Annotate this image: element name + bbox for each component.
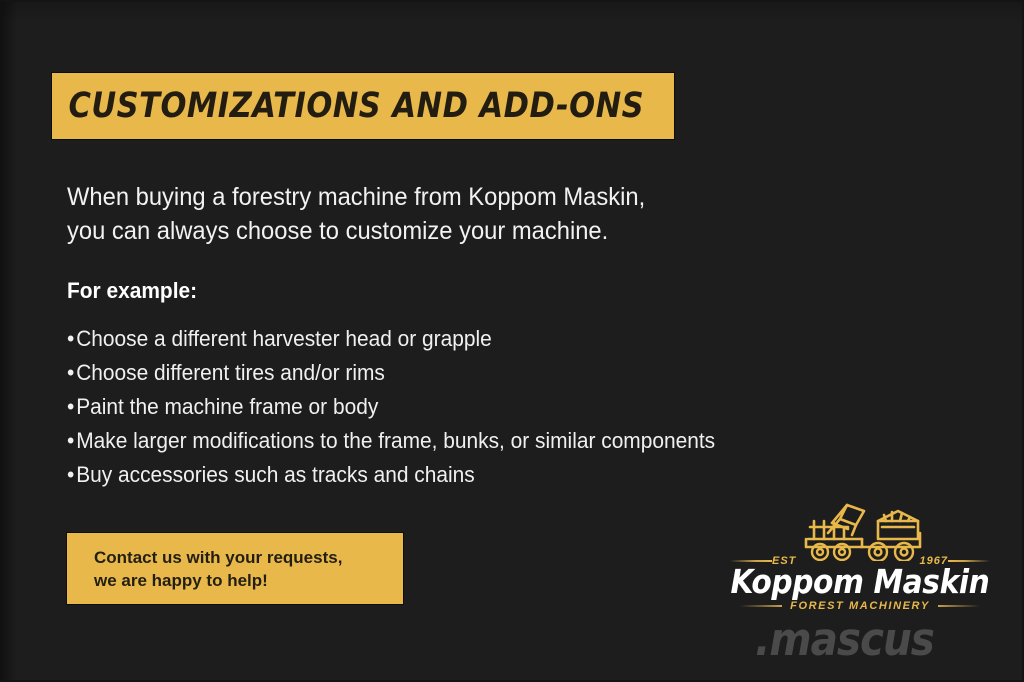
title-banner: CUSTOMIZATIONS AND ADD-ONS bbox=[52, 73, 674, 139]
list-item-label: Paint the machine frame or body bbox=[76, 394, 378, 419]
list-item: •Make larger modifications to the frame,… bbox=[67, 424, 856, 458]
example-heading: For example: bbox=[67, 278, 197, 304]
promo-slide: CUSTOMIZATIONS AND ADD-ONS When buying a… bbox=[0, 0, 1024, 682]
cta-line-1: Contact us with your requests, bbox=[94, 546, 403, 569]
logo-tagline: FOREST MACHINERY bbox=[790, 600, 930, 612]
list-item: •Paint the machine frame or body bbox=[67, 390, 856, 424]
tagline-rule-left bbox=[740, 605, 782, 607]
mascus-watermark: .mascus bbox=[755, 616, 1007, 664]
list-item-label: Choose a different harvester head or gra… bbox=[76, 326, 492, 351]
bullet-dot-icon: • bbox=[67, 356, 74, 390]
list-item: •Choose a different harvester head or gr… bbox=[67, 322, 856, 356]
intro-line-2: you can always choose to customize your … bbox=[67, 214, 789, 248]
list-item: •Buy accessories such as tracks and chai… bbox=[67, 458, 856, 492]
forestry-forwarder-icon bbox=[792, 499, 932, 561]
bullet-dot-icon: • bbox=[67, 322, 74, 356]
bullet-dot-icon: • bbox=[67, 424, 74, 458]
intro-paragraph: When buying a forestry machine from Kopp… bbox=[67, 180, 789, 248]
list-item-label: Buy accessories such as tracks and chain… bbox=[76, 462, 474, 487]
customization-options-list: •Choose a different harvester head or gr… bbox=[67, 322, 897, 492]
bullet-dot-icon: • bbox=[67, 390, 74, 424]
cta-line-2: we are happy to help! bbox=[94, 569, 403, 592]
logo-wordmark: Koppom Maskin bbox=[730, 562, 990, 601]
koppom-maskin-logo: EST 1967 Koppom Maskin FOREST MACHINERY bbox=[730, 499, 990, 614]
bullet-dot-icon: • bbox=[67, 458, 74, 492]
intro-line-1: When buying a forestry machine from Kopp… bbox=[67, 180, 789, 214]
contact-cta-box[interactable]: Contact us with your requests, we are ha… bbox=[67, 533, 403, 604]
list-item: •Choose different tires and/or rims bbox=[67, 356, 856, 390]
tagline-rule-right bbox=[938, 605, 980, 607]
list-item-label: Choose different tires and/or rims bbox=[76, 360, 385, 385]
page-title: CUSTOMIZATIONS AND ADD-ONS bbox=[52, 86, 644, 126]
list-item-label: Make larger modifications to the frame, … bbox=[76, 428, 715, 453]
logo-tagline-row: FOREST MACHINERY bbox=[730, 599, 990, 613]
